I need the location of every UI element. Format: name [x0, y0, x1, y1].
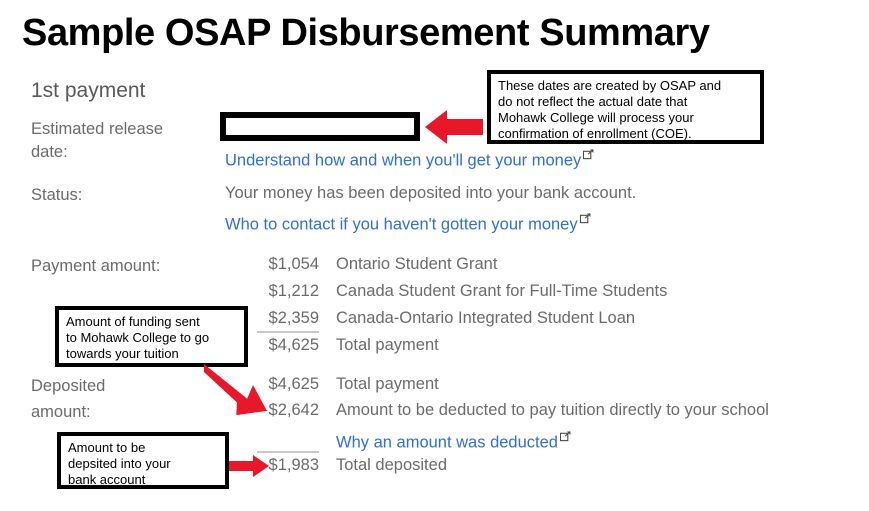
link-why-an-amount-was-deducted[interactable]: Why an amount was deducted	[336, 427, 571, 453]
page-title: Sample OSAP Disbursement Summary	[22, 13, 710, 55]
payment-amount-value: $2,359	[247, 309, 319, 328]
status-label: Status:	[31, 184, 82, 206]
callout-dates-note-line2: do not reflect the actual date that	[498, 94, 753, 110]
link-who-to-contact[interactable]: Who to contact if you haven't gotten you…	[225, 209, 591, 235]
external-link-icon	[583, 146, 594, 157]
section-heading-1st-payment: 1st payment	[31, 79, 145, 103]
estimated-release-date-label-line1: Estimated release	[31, 118, 163, 140]
payment-amount-description: Canada-Ontario Integrated Student Loan	[336, 309, 635, 328]
deposited-amount-label-line1: Deposited	[31, 375, 105, 397]
link-understand-how-and-when-label: Understand how and when you'll get your …	[225, 152, 581, 170]
callout-tuition-note-line1: Amount of funding sent	[66, 314, 237, 330]
deposited-amount-description: Total payment	[336, 375, 439, 394]
payment-amount-value: $1,054	[247, 255, 319, 274]
payment-subtotal-rule	[257, 331, 319, 333]
callout-bank-note-line3: bank account	[68, 472, 218, 488]
payment-amount-description: Canada Student Grant for Full-Time Stude…	[336, 282, 667, 301]
payment-amount-description: Ontario Student Grant	[336, 255, 497, 274]
callout-bank-note-line2: depsited into your	[68, 456, 218, 472]
estimated-release-date-label-line2: date:	[31, 141, 68, 163]
deposited-amount-label-line2: amount:	[31, 401, 91, 423]
link-who-to-contact-label: Who to contact if you haven't gotten you…	[225, 216, 578, 234]
callout-dates-note: These dates are created by OSAP and do n…	[487, 70, 764, 144]
annotation-arrow-left	[425, 107, 483, 147]
callout-dates-note-line3: Mohawk College will process your	[498, 110, 753, 126]
callout-dates-note-line1: These dates are created by OSAP and	[498, 78, 753, 94]
link-understand-how-and-when[interactable]: Understand how and when you'll get your …	[225, 145, 594, 171]
external-link-icon	[580, 210, 591, 221]
estimated-release-date-redaction-box	[220, 112, 420, 141]
annotation-arrow-right	[229, 455, 269, 477]
callout-dates-note-line4: confirmation of enrollment (COE).	[498, 126, 753, 142]
total-deposited-description: Total deposited	[336, 456, 447, 475]
deposited-subtotal-rule	[257, 451, 319, 453]
deposited-amount-description: Amount to be deducted to pay tuition dir…	[336, 401, 769, 420]
payment-amount-label: Payment amount:	[31, 255, 160, 277]
callout-tuition-note-line3: towards your tuition	[66, 346, 237, 362]
callout-tuition-note-line2: to Mohawk College to go	[66, 330, 237, 346]
payment-total-value: $4,625	[247, 336, 319, 355]
callout-bank-note: Amount to be depsited into your bank acc…	[57, 432, 229, 489]
status-value: Your money has been deposited into your …	[225, 184, 636, 203]
callout-bank-note-line1: Amount to be	[68, 440, 218, 456]
payment-amount-value: $1,212	[247, 282, 319, 301]
payment-total-description: Total payment	[336, 336, 439, 355]
external-link-icon	[560, 428, 571, 439]
annotation-arrow-diagonal	[203, 363, 271, 415]
link-why-an-amount-was-deducted-label: Why an amount was deducted	[336, 434, 558, 452]
callout-tuition-note: Amount of funding sent to Mohawk College…	[55, 306, 248, 367]
